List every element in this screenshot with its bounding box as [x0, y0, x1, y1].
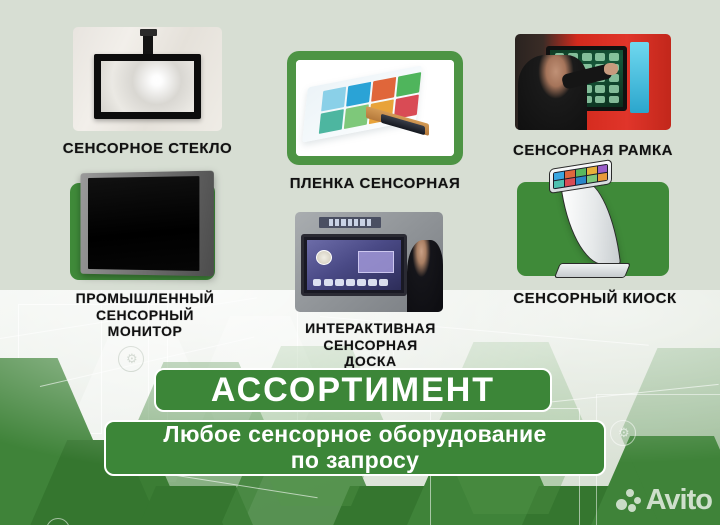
product-caption-interactive-board: ИНТЕРАКТИВНАЯ СЕНСОРНАЯ ДОСКА: [278, 320, 463, 370]
avito-wordmark: Avito: [646, 484, 712, 517]
product-image-touch-frame: [515, 34, 671, 130]
tile: [565, 178, 575, 186]
strip-led: [335, 219, 339, 225]
grid-cell: [609, 96, 619, 104]
dock-icon: [324, 279, 333, 286]
grid-cell: [595, 85, 605, 93]
logo-dot: [628, 504, 636, 512]
grid-cell: [582, 53, 592, 61]
monitor-screen: [88, 176, 200, 271]
grid-cell: [609, 53, 619, 61]
gear-icon: ⚙: [618, 427, 630, 440]
grid-cell: [609, 85, 619, 93]
tile: [346, 82, 371, 107]
product-image-industrial-monitor: [78, 172, 213, 275]
strip-led: [367, 219, 371, 225]
grid-cell: [595, 53, 605, 61]
dock-icon: [379, 279, 388, 286]
tile: [565, 170, 575, 178]
product-image-touch-film: [296, 60, 454, 156]
product-caption-touch-kiosk: СЕНСОРНЫЙ КИОСК: [490, 290, 700, 308]
desktop-window: [358, 251, 394, 273]
logo-dot: [626, 489, 634, 497]
kiosk-column: [559, 181, 620, 265]
gear-icon: ⚙: [126, 353, 138, 366]
product-frame-touch-film: [287, 51, 463, 165]
tile: [371, 77, 396, 102]
desktop-dock: [313, 278, 389, 287]
headline-banner: АССОРТИМЕНТ: [154, 368, 552, 412]
strip-led: [354, 219, 358, 225]
board-control-strip: [319, 217, 381, 228]
strip-led: [348, 219, 352, 225]
tile: [575, 168, 585, 176]
advertisement-banner: ⚙ ✚ ← ⚙ ⚙ ← СЕНСОРНОЕ СТЕКЛО: [0, 0, 720, 525]
tile: [396, 72, 421, 97]
product-image-touch-kiosk: [517, 166, 669, 278]
glass-surface: [101, 61, 194, 111]
logo-dot: [634, 497, 641, 504]
glass-controller-stem: [143, 33, 153, 56]
headline-text: АССОРТИМЕНТ: [211, 371, 495, 410]
subline-text: Любое сенсорное оборудование по запросу: [163, 422, 546, 474]
product-image-interactive-board: [295, 212, 443, 312]
tile: [586, 166, 596, 174]
dock-icon: [368, 279, 377, 286]
kiosk-base: [555, 263, 631, 278]
technician-hand: [604, 63, 618, 75]
product-caption-touch-frame: СЕНСОРНАЯ РАМКА: [488, 142, 698, 160]
desktop-clock-widget: [316, 250, 332, 265]
strip-led: [329, 219, 333, 225]
kiosk-screen: [553, 163, 608, 188]
tile: [597, 172, 607, 180]
strip-led: [341, 219, 345, 225]
logo-dot: [616, 499, 627, 510]
kiosk-screen-housing: [549, 159, 612, 194]
avito-watermark: Avito: [616, 484, 712, 517]
dock-icon: [313, 279, 322, 286]
subline-banner: Любое сенсорное оборудование по запросу: [104, 420, 606, 476]
tile: [554, 171, 564, 179]
product-caption-touch-film: ПЛЕНКА СЕНСОРНАЯ: [265, 175, 485, 193]
grid-cell: [595, 96, 605, 104]
technician-figure: [518, 55, 587, 130]
dock-icon: [346, 279, 355, 286]
tile: [554, 179, 564, 187]
presenter-figure: [407, 240, 443, 312]
kiosk-body: [550, 166, 638, 278]
tile: [586, 174, 596, 182]
board-desktop: [307, 240, 402, 290]
board-display-panel: [301, 234, 408, 296]
dock-icon: [335, 279, 344, 286]
product-image-touch-glass: [73, 27, 222, 131]
tile: [597, 165, 607, 173]
strip-led: [360, 219, 364, 225]
product-caption-touch-glass: СЕНСОРНОЕ СТЕКЛО: [35, 140, 260, 158]
dock-icon: [357, 279, 366, 286]
frame-sensor-bar: [630, 42, 649, 113]
monitor-chassis: [80, 171, 213, 277]
tile: [321, 87, 346, 112]
product-caption-industrial-monitor: ПРОМЫШЛЕННЫЙ СЕНСОРНЫЙ МОНИТОР: [45, 290, 245, 340]
tile: [575, 176, 585, 184]
avito-dots-logo: [616, 488, 642, 514]
glass-frame: [94, 54, 201, 118]
